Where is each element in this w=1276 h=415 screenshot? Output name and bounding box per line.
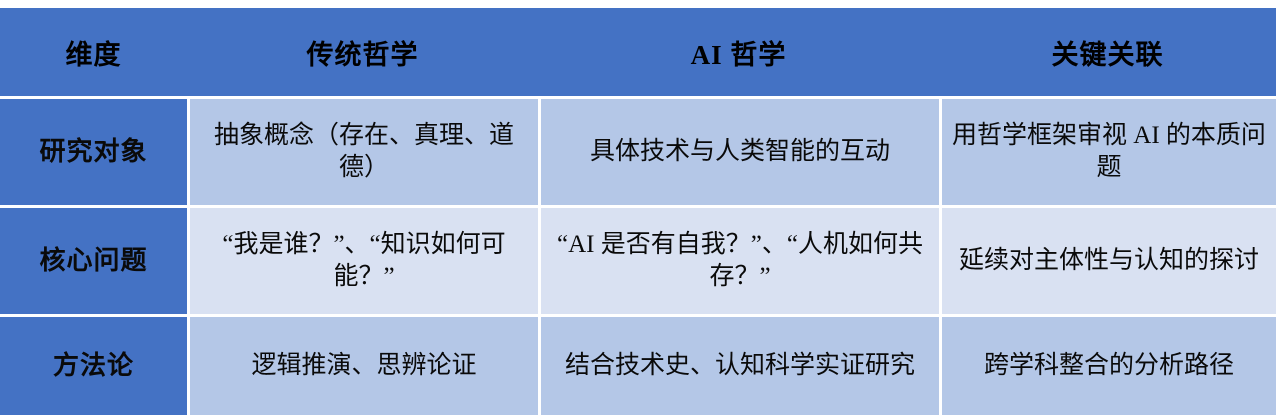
table-row: 研究对象 抽象概念（存在、真理、道德） 具体技术与人类智能的互动 用哲学框架审视…	[0, 96, 1276, 205]
comparison-table-container: 维度 传统哲学 AI 哲学 关键关联 研究对象 抽象概念（存在、真理、道德） 具…	[0, 8, 1276, 397]
table-row: 方法论 逻辑推演、思辨论证 结合技术史、认知科学实证研究 跨学科整合的分析路径	[0, 314, 1276, 415]
column-header-dimension: 维度	[0, 8, 187, 96]
cell-research-object-link: 用哲学框架审视 AI 的本质问题	[939, 96, 1276, 205]
column-header-key-link: 关键关联	[939, 8, 1276, 96]
comparison-table: 维度 传统哲学 AI 哲学 关键关联 研究对象 抽象概念（存在、真理、道德） 具…	[0, 8, 1276, 415]
cell-research-object-ai: 具体技术与人类智能的互动	[538, 96, 939, 205]
cell-core-question-traditional: “我是谁？”、“知识如何可能？”	[187, 205, 538, 314]
cell-methodology-traditional: 逻辑推演、思辨论证	[187, 314, 538, 415]
cell-core-question-ai: “AI 是否有自我？”、“人机如何共存？”	[538, 205, 939, 314]
row-header-research-object: 研究对象	[0, 96, 187, 205]
table-body: 研究对象 抽象概念（存在、真理、道德） 具体技术与人类智能的互动 用哲学框架审视…	[0, 96, 1276, 415]
cell-methodology-link: 跨学科整合的分析路径	[939, 314, 1276, 415]
column-header-traditional-philosophy: 传统哲学	[187, 8, 538, 96]
table-row: 核心问题 “我是谁？”、“知识如何可能？” “AI 是否有自我？”、“人机如何共…	[0, 205, 1276, 314]
cell-core-question-link: 延续对主体性与认知的探讨	[939, 205, 1276, 314]
table-header-row: 维度 传统哲学 AI 哲学 关键关联	[0, 8, 1276, 96]
row-header-methodology: 方法论	[0, 314, 187, 415]
row-header-core-question: 核心问题	[0, 205, 187, 314]
cell-methodology-ai: 结合技术史、认知科学实证研究	[538, 314, 939, 415]
column-header-ai-philosophy: AI 哲学	[538, 8, 939, 96]
table-header: 维度 传统哲学 AI 哲学 关键关联	[0, 8, 1276, 96]
cell-research-object-traditional: 抽象概念（存在、真理、道德）	[187, 96, 538, 205]
